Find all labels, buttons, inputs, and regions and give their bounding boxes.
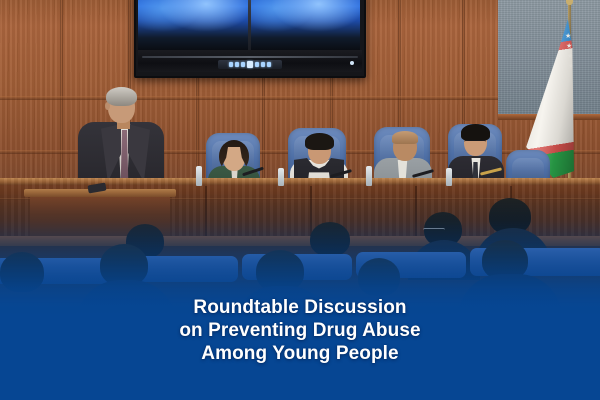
audience-glasses-icon [423, 228, 445, 234]
water-bottle [278, 168, 284, 186]
dais-seam [205, 186, 207, 236]
control-led-icon [247, 61, 253, 68]
screen-content [138, 0, 248, 50]
bezel-accent-line [142, 56, 358, 58]
wall-display-screen [134, 0, 366, 78]
caption-line-1: Roundtable Discussion [0, 296, 600, 319]
control-led-icon [255, 62, 259, 67]
control-led-icon [241, 62, 245, 67]
screen-control-strip [218, 60, 282, 69]
control-led-icon [235, 62, 239, 67]
screen-bezel-bottom [138, 50, 362, 72]
audience-head [358, 258, 400, 296]
screen-content [251, 0, 360, 50]
panelist-hair [305, 133, 334, 150]
water-bottle [196, 166, 202, 186]
water-bottle [446, 168, 452, 186]
screen-panel-left [138, 0, 248, 50]
water-bottle [366, 166, 372, 186]
control-led-icon [229, 62, 233, 67]
screenshot-root: ★ ★ ★ ★ [0, 0, 600, 400]
audience-head [310, 222, 350, 256]
caption-line-3: Among Young People [0, 342, 600, 365]
panelist-hair [392, 131, 418, 144]
screen-divider [248, 0, 251, 50]
dais-seam [310, 186, 312, 236]
caption-banner: Roundtable Discussion on Preventing Drug… [0, 296, 600, 365]
glasses-icon [464, 140, 486, 146]
power-led-icon [350, 61, 354, 65]
dais-seam [415, 186, 417, 236]
screen-panel-right [251, 0, 360, 50]
caption-line-2: on Preventing Drug Abuse [0, 319, 600, 342]
panelist-hair [461, 124, 490, 141]
audience-head [0, 252, 44, 292]
control-led-icon [261, 62, 265, 67]
control-led-icon [267, 62, 271, 67]
speaker-hair [106, 87, 137, 106]
